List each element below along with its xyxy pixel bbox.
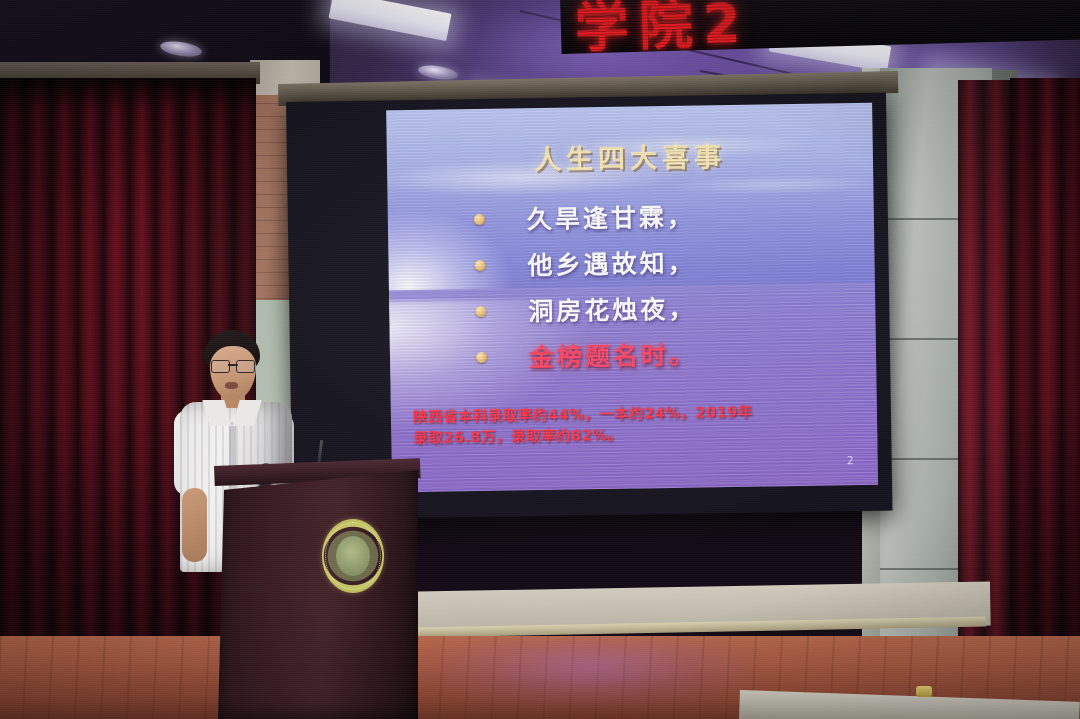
slide-page-number: 2: [847, 454, 854, 467]
university-crest-icon: [322, 519, 384, 593]
projection-screen-frame: 人生四大喜事 久旱逢甘霖， 他乡遇故知， 洞房花烛夜， 金榜题名时。: [286, 93, 892, 520]
lecture-hall-photo: 学院2 人生四大喜事: [0, 0, 1080, 719]
crest-inner: [336, 536, 370, 576]
eyeglasses-icon: [211, 360, 255, 371]
bullet-text: 他乡遇故知，: [527, 244, 696, 283]
presenter-mouth: [225, 382, 238, 389]
lectern-podium: [218, 470, 418, 719]
bullet-text: 久旱逢甘霖，: [527, 198, 696, 237]
list-item: 久旱逢甘霖，: [474, 197, 834, 235]
glasses-lens-right: [236, 360, 255, 373]
slide-bullet-list: 久旱逢甘霖， 他乡遇故知， 洞房花烛夜， 金榜题名时。: [474, 197, 837, 387]
presentation-slide: 人生四大喜事 久旱逢甘霖， 他乡遇故知， 洞房花烛夜， 金榜题名时。: [386, 103, 878, 493]
floor-light-reflection: [420, 640, 760, 710]
list-item: 金榜题名时。: [476, 335, 836, 373]
bullet-dot-icon: [475, 305, 486, 316]
stage-curtain-right-inner: [958, 80, 1018, 665]
glasses-lens-left: [211, 360, 230, 373]
floor-object: [916, 686, 932, 697]
stage-curtain-right: [1010, 78, 1080, 668]
presenter-face: [210, 346, 256, 400]
slide-footnote: 陕西省本科录取率约44%，一本约24%，2019年 录取26.8万，录取率约82…: [413, 401, 860, 450]
bullet-dot-icon: [476, 351, 487, 362]
presenter-arm-left: [182, 488, 207, 562]
list-item: 他乡遇故知，: [474, 243, 834, 281]
bullet-text-highlighted: 金榜题名时。: [529, 336, 698, 375]
bullet-text: 洞房花烛夜，: [528, 290, 697, 329]
curtain-pleat-shadow: [0, 78, 256, 110]
curtain-shading: [1010, 78, 1080, 668]
list-item: 洞房花烛夜，: [475, 289, 835, 327]
slide-title: 人生四大喜事: [387, 133, 874, 180]
bullet-dot-icon: [474, 259, 485, 270]
bullet-dot-icon: [474, 213, 485, 224]
